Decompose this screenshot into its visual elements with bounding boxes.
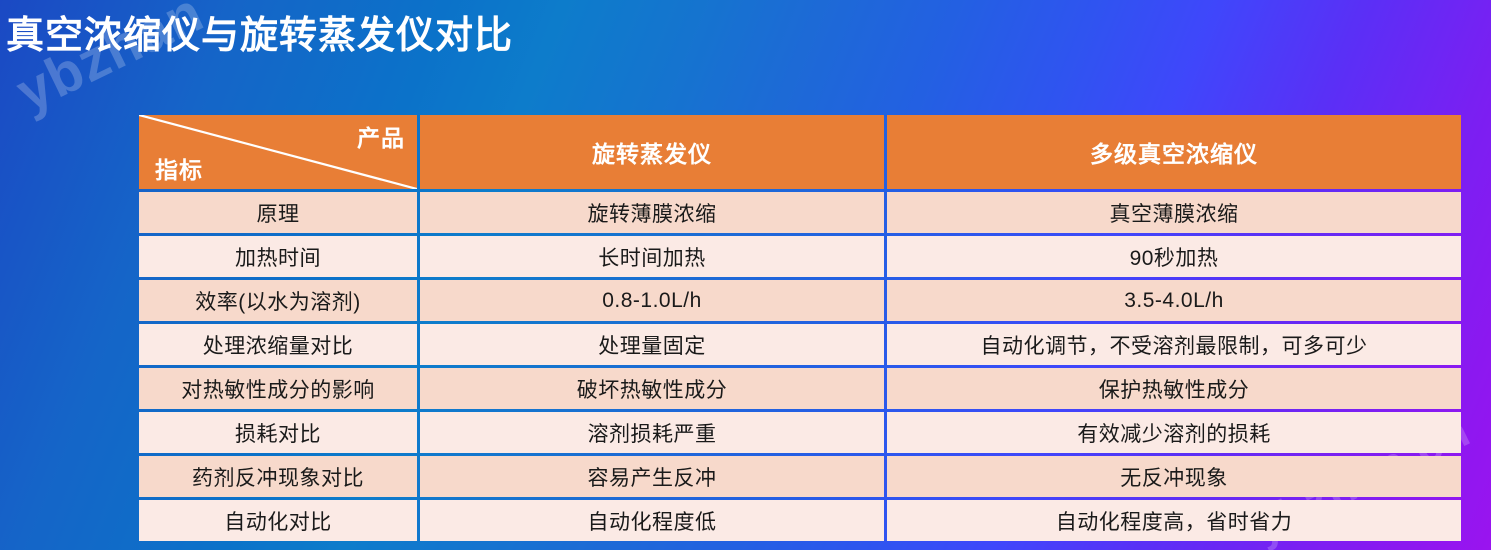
header-product-label: 产品 xyxy=(357,119,405,153)
cell-rotary: 溶剂损耗严重 xyxy=(420,412,884,453)
header-column-rotary-evaporator: 旋转蒸发仪 xyxy=(420,115,884,189)
cell-metric: 自动化对比 xyxy=(139,500,417,541)
cell-rotary: 0.8-1.0L/h xyxy=(420,280,884,321)
cell-vacuum: 90秒加热 xyxy=(887,236,1461,277)
cell-rotary: 容易产生反冲 xyxy=(420,456,884,497)
cell-metric: 原理 xyxy=(139,192,417,233)
table-row: 加热时间 长时间加热 90秒加热 xyxy=(139,236,1461,277)
table-row: 药剂反冲现象对比 容易产生反冲 无反冲现象 xyxy=(139,456,1461,497)
cell-metric: 加热时间 xyxy=(139,236,417,277)
cell-metric: 效率(以水为溶剂) xyxy=(139,280,417,321)
table-body: 原理 旋转薄膜浓缩 真空薄膜浓缩 加热时间 长时间加热 90秒加热 效率(以水为… xyxy=(139,192,1461,541)
table-row: 损耗对比 溶剂损耗严重 有效减少溶剂的损耗 xyxy=(139,412,1461,453)
page-title: 真空浓缩仪与旋转蒸发仪对比 xyxy=(6,14,513,60)
cell-vacuum: 自动化调节，不受溶剂最限制，可多可少 xyxy=(887,324,1461,365)
table-row: 原理 旋转薄膜浓缩 真空薄膜浓缩 xyxy=(139,192,1461,233)
cell-rotary: 自动化程度低 xyxy=(420,500,884,541)
cell-rotary: 长时间加热 xyxy=(420,236,884,277)
table-row: 效率(以水为溶剂) 0.8-1.0L/h 3.5-4.0L/h xyxy=(139,280,1461,321)
table-row: 处理浓缩量对比 处理量固定 自动化调节，不受溶剂最限制，可多可少 xyxy=(139,324,1461,365)
cell-metric: 处理浓缩量对比 xyxy=(139,324,417,365)
table-row: 自动化对比 自动化程度低 自动化程度高，省时省力 xyxy=(139,500,1461,541)
cell-metric: 损耗对比 xyxy=(139,412,417,453)
comparison-table: 产品 指标 旋转蒸发仪 多级真空浓缩仪 原理 旋转薄膜浓缩 真空薄膜浓缩 加热时… xyxy=(136,112,1464,544)
cell-rotary: 破坏热敏性成分 xyxy=(420,368,884,409)
comparison-table-container: 产品 指标 旋转蒸发仪 多级真空浓缩仪 原理 旋转薄膜浓缩 真空薄膜浓缩 加热时… xyxy=(136,112,1458,544)
cell-vacuum: 真空薄膜浓缩 xyxy=(887,192,1461,233)
table-header: 产品 指标 旋转蒸发仪 多级真空浓缩仪 xyxy=(139,115,1461,189)
cell-metric: 药剂反冲现象对比 xyxy=(139,456,417,497)
cell-metric: 对热敏性成分的影响 xyxy=(139,368,417,409)
header-corner-diagonal-cell: 产品 指标 xyxy=(139,115,417,189)
table-header-row: 产品 指标 旋转蒸发仪 多级真空浓缩仪 xyxy=(139,115,1461,189)
table-row: 对热敏性成分的影响 破坏热敏性成分 保护热敏性成分 xyxy=(139,368,1461,409)
cell-vacuum: 保护热敏性成分 xyxy=(887,368,1461,409)
cell-vacuum: 自动化程度高，省时省力 xyxy=(887,500,1461,541)
header-column-vacuum-concentrator: 多级真空浓缩仪 xyxy=(887,115,1461,189)
cell-vacuum: 无反冲现象 xyxy=(887,456,1461,497)
cell-rotary: 旋转薄膜浓缩 xyxy=(420,192,884,233)
cell-vacuum: 3.5-4.0L/h xyxy=(887,280,1461,321)
cell-rotary: 处理量固定 xyxy=(420,324,884,365)
header-metric-label: 指标 xyxy=(155,151,203,185)
cell-vacuum: 有效减少溶剂的损耗 xyxy=(887,412,1461,453)
